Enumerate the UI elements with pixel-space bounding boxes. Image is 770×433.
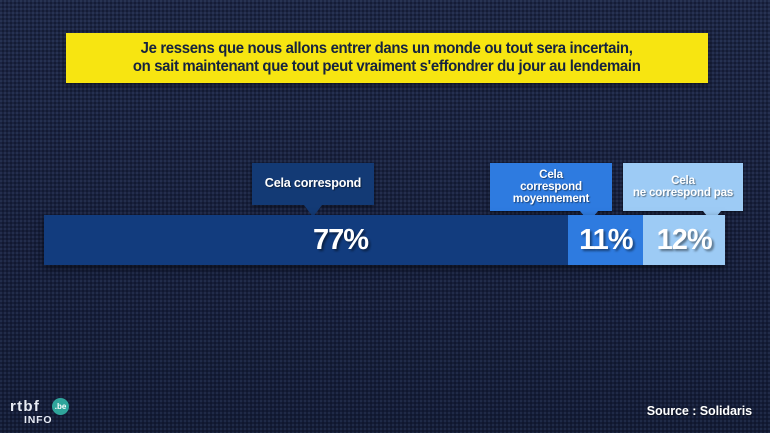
callout-cela-correspond: Cela correspond bbox=[252, 163, 374, 205]
callout-2-line-2: correspond bbox=[520, 180, 582, 193]
callout-cela-ne-correspond-pas: Cela ne correspond pas bbox=[623, 163, 743, 211]
callout-1-line-1: Cela correspond bbox=[265, 176, 361, 190]
rtbf-be-badge-icon: .be bbox=[52, 398, 69, 415]
bar-value-3: 12% bbox=[657, 224, 712, 257]
stacked-bar-chart: 77% 11% 12% bbox=[44, 215, 725, 265]
callout-3-line-1: Cela bbox=[671, 174, 695, 187]
infographic-canvas: Je ressens que nous allons entrer dans u… bbox=[0, 0, 770, 433]
bar-value-1: 77% bbox=[313, 224, 368, 257]
source-credit: Source : Solidaris bbox=[647, 404, 752, 418]
callout-1-label: Cela correspond bbox=[259, 177, 367, 190]
rtbf-info-logo: rtbf .be INFO bbox=[8, 398, 72, 428]
bar-segment-cela-correspond-moyennement: 11% bbox=[568, 215, 643, 265]
callout-3-label: Cela ne correspond pas bbox=[627, 175, 739, 199]
bar-segment-cela-correspond: 77% bbox=[44, 215, 568, 265]
title-line-1: Je ressens que nous allons entrer dans u… bbox=[141, 41, 633, 57]
bar-segment-cela-ne-correspond-pas: 12% bbox=[643, 215, 725, 265]
callout-cela-correspond-moyennement: Cela correspond moyennement bbox=[490, 163, 612, 211]
title-banner: Je ressens que nous allons entrer dans u… bbox=[66, 33, 708, 83]
callout-2-line-3: moyennement bbox=[513, 192, 589, 205]
callout-2-label: Cela correspond moyennement bbox=[507, 169, 595, 205]
rtbf-wordmark: rtbf bbox=[10, 399, 40, 414]
callout-2-line-1: Cela bbox=[539, 168, 563, 181]
title-line-2: on sait maintenant que tout peut vraimen… bbox=[133, 59, 641, 75]
callout-3-line-2: ne correspond pas bbox=[633, 186, 733, 199]
bar-value-2: 11% bbox=[579, 224, 632, 257]
rtbf-info-sublabel: INFO bbox=[24, 415, 52, 426]
